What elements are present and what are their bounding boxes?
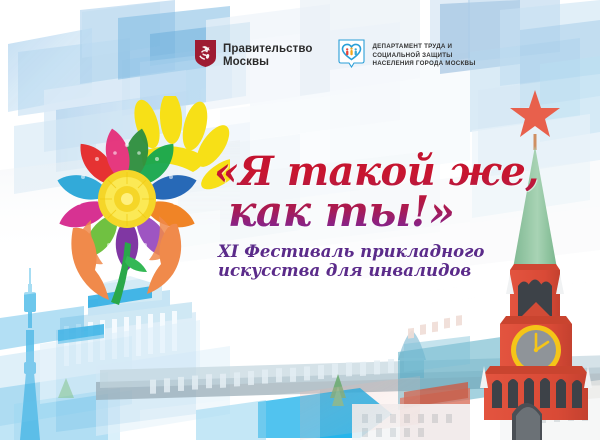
red-star bbox=[510, 90, 560, 137]
moscow-government-label: Правительство Москвы bbox=[223, 43, 313, 69]
subtitle-line-1: XI Фестиваль прикладного bbox=[218, 242, 484, 261]
lace-flower-emblem bbox=[55, 96, 230, 306]
department-logo: ДЕПАРТАМЕНТ ТРУДА И СОЦИАЛЬНОЙ ЗАЩИТЫ НА… bbox=[337, 39, 476, 73]
dep-line-2: СОЦИАЛЬНОЙ ЗАЩИТЫ bbox=[373, 52, 453, 59]
dep-line-1: ДЕПАРТАМЕНТ ТРУДА И bbox=[373, 43, 453, 50]
headline-line-1: «Я такой же, bbox=[214, 152, 539, 191]
blue-heart-people-icon bbox=[337, 39, 366, 73]
headline-line-2: как ты!» bbox=[228, 191, 539, 232]
moscow-government-logo: Правительство Москвы bbox=[195, 40, 313, 72]
subtitle: XI Фестиваль прикладного искусства для и… bbox=[218, 242, 484, 281]
festival-poster: Правительство Москвы bbox=[0, 0, 600, 440]
moscow-coat-of-arms-icon bbox=[195, 40, 216, 72]
gov-line-2: Москвы bbox=[223, 56, 269, 68]
dep-line-3: НАСЕЛЕНИЯ ГОРОДА МОСКВЫ bbox=[373, 60, 476, 67]
gov-line-1: Правительство bbox=[223, 43, 313, 55]
logo-row: Правительство Москвы bbox=[195, 39, 476, 73]
subtitle-line-2: искусства для инвалидов bbox=[218, 261, 484, 280]
headline: «Я такой же, как ты!» bbox=[214, 152, 539, 232]
department-label: ДЕПАРТАМЕНТ ТРУДА И СОЦИАЛЬНОЙ ЗАЩИТЫ НА… bbox=[373, 43, 476, 69]
spasskaya-tower bbox=[470, 88, 600, 440]
